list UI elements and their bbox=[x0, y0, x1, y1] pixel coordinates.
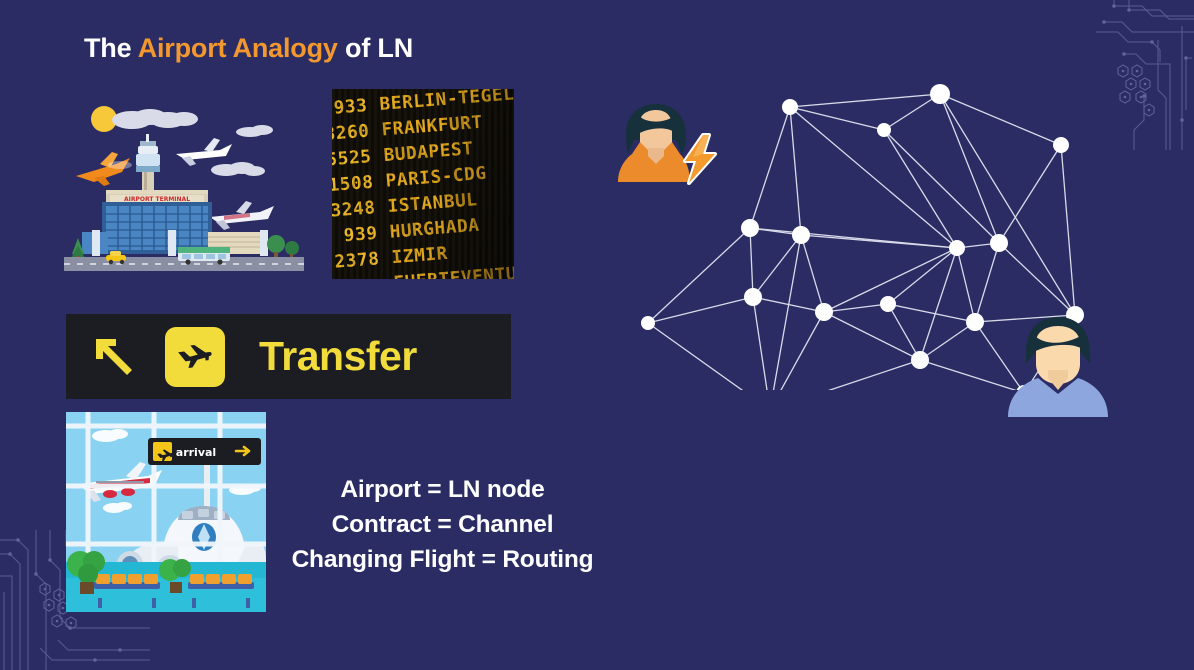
board-flight-number: 3248 bbox=[332, 200, 376, 222]
network-node[interactable] bbox=[880, 296, 896, 312]
analogy-line-1: Airport = LN node bbox=[270, 472, 615, 507]
board-flight-number: 339 bbox=[332, 89, 366, 94]
network-edge bbox=[801, 235, 824, 312]
airport-interior-illustration: arrival bbox=[66, 412, 266, 612]
network-edge bbox=[1061, 145, 1075, 315]
up-left-arrow-icon bbox=[90, 333, 138, 381]
transfer-sign: Transfer bbox=[66, 314, 511, 399]
analogy-text-block: Airport = LN node Contract = Channel Cha… bbox=[270, 472, 615, 577]
airport-terminal-illustration: AIRPORT TERMINAL bbox=[64, 92, 304, 277]
network-edge bbox=[753, 297, 824, 312]
board-destination: FRANKFURT bbox=[381, 114, 483, 140]
arrival-label: arrival bbox=[176, 446, 216, 459]
board-destination: IZMIR bbox=[391, 245, 449, 267]
network-edge bbox=[920, 322, 975, 360]
network-edge bbox=[753, 297, 770, 390]
network-edge bbox=[648, 297, 753, 323]
network-edge bbox=[999, 145, 1061, 243]
transfer-label: Transfer bbox=[259, 336, 417, 377]
network-edge bbox=[790, 107, 801, 235]
network-edge bbox=[648, 323, 770, 390]
network-edge bbox=[801, 235, 957, 248]
title-accent: Airport Analogy bbox=[138, 33, 338, 63]
network-edge bbox=[770, 312, 824, 390]
network-edge bbox=[888, 304, 975, 322]
board-flight-number: 1508 bbox=[332, 174, 374, 196]
transfer-plane-badge bbox=[165, 327, 225, 387]
network-node[interactable] bbox=[1053, 137, 1069, 153]
network-node[interactable] bbox=[815, 303, 833, 321]
slide-canvas: The Airport Analogy of LN bbox=[0, 0, 1194, 670]
board-flight-number: 2378 bbox=[332, 251, 380, 273]
network-node[interactable] bbox=[990, 234, 1008, 252]
network-edge bbox=[940, 94, 1061, 145]
network-edge bbox=[750, 107, 790, 228]
white-airplane-icon-1 bbox=[176, 138, 232, 166]
board-flight-number: 933 bbox=[332, 98, 368, 120]
title-suffix: of LN bbox=[338, 33, 413, 63]
white-airplane-icon-2 bbox=[210, 201, 274, 230]
orange-airplane-icon bbox=[76, 152, 132, 186]
network-edge bbox=[884, 130, 957, 248]
network-edge bbox=[957, 248, 975, 322]
board-flight-number: 5525 bbox=[332, 149, 372, 171]
network-node[interactable] bbox=[741, 219, 759, 237]
departure-board: 339MUENCHEN933BERLIN-TEGEL8260FRANKFURT5… bbox=[332, 89, 514, 279]
network-node[interactable] bbox=[877, 123, 891, 137]
analogy-line-3: Changing Flight = Routing bbox=[270, 542, 615, 577]
lightning-bolt-icon bbox=[676, 133, 724, 185]
network-node[interactable] bbox=[641, 316, 655, 330]
network-edge bbox=[770, 360, 920, 390]
network-node[interactable] bbox=[744, 288, 762, 306]
network-edge bbox=[753, 235, 801, 297]
network-node[interactable] bbox=[911, 351, 929, 369]
receiver-avatar bbox=[1004, 312, 1112, 417]
board-destination: PARIS-CDG bbox=[385, 165, 487, 191]
network-edge bbox=[750, 228, 753, 297]
network-edge bbox=[790, 94, 940, 107]
network-edge bbox=[884, 130, 999, 243]
network-edge bbox=[920, 248, 957, 360]
cloud-group bbox=[112, 109, 273, 176]
slide-title: The Airport Analogy of LN bbox=[84, 33, 413, 64]
board-flight-number: 939 bbox=[332, 225, 378, 247]
board-destination: BERLIN-TEGEL bbox=[379, 89, 514, 114]
analogy-line-2: Contract = Channel bbox=[270, 507, 615, 542]
arrival-sign: arrival bbox=[148, 438, 261, 465]
network-node[interactable] bbox=[966, 313, 984, 331]
departure-board-rows: 339MUENCHEN933BERLIN-TEGEL8260FRANKFURT5… bbox=[332, 89, 514, 279]
board-destination: HURGHADA bbox=[389, 217, 480, 242]
board-destination: BUDAPEST bbox=[383, 141, 474, 166]
board-flight-number: 8260 bbox=[332, 123, 370, 145]
network-edge bbox=[770, 235, 801, 390]
network-edge bbox=[940, 94, 999, 243]
airplane-icon bbox=[175, 337, 215, 377]
building-label: AIRPORT TERMINAL bbox=[124, 196, 190, 203]
network-edge bbox=[975, 243, 999, 322]
network-node[interactable] bbox=[949, 240, 965, 256]
network-node[interactable] bbox=[792, 226, 810, 244]
terminal-building: AIRPORT TERMINAL bbox=[102, 190, 212, 254]
network-node[interactable] bbox=[930, 84, 950, 104]
network-node[interactable] bbox=[782, 99, 798, 115]
board-destination: ISTANBUL bbox=[387, 192, 478, 217]
network-edge bbox=[648, 228, 750, 323]
title-prefix: The bbox=[84, 33, 138, 63]
